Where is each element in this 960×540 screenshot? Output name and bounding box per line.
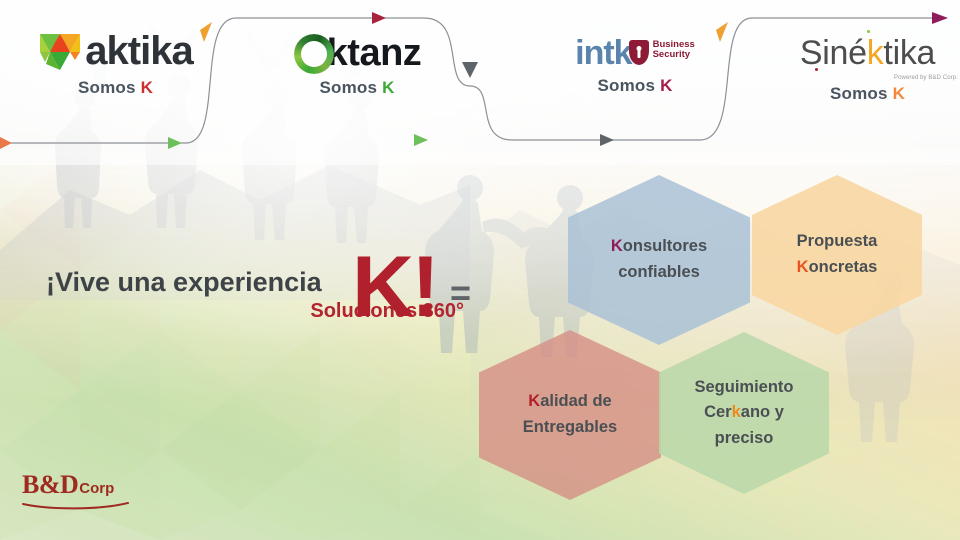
logo-aktika[interactable]: aktika Somos K (28, 30, 203, 98)
triangle-mosaic-icon (38, 30, 84, 72)
oktanz-tagline: Somos K (262, 78, 452, 98)
sparkle-dot-green (867, 30, 870, 33)
brand-logo-row: aktika Somos K ktanz Somos K intk Busine… (0, 0, 960, 165)
hexagon-konsultores-text: Konsultores confiables (601, 234, 717, 285)
slide-canvas: aktika Somos K ktanz Somos K intk Busine… (0, 0, 960, 540)
aktika-wordmark: aktika (85, 31, 192, 71)
sparkle-dot-red (815, 68, 818, 71)
logo-oktanz[interactable]: ktanz Somos K (262, 32, 452, 98)
aktika-tagline: Somos K (28, 78, 203, 98)
sinektika-wordmark: Sinéktika Powered by B&D Corp. (775, 36, 960, 70)
powered-by-label: Powered by B&D Corp. (894, 75, 958, 81)
shield-lock-icon (629, 40, 649, 65)
hexagon-propuesta-text: Propuesta Koncretas (787, 229, 888, 280)
hexagon-seguimiento-text: Seguimiento Cerkano y preciso (684, 375, 803, 452)
oktanz-wordmark: ktanz (262, 32, 452, 72)
equals-sign: = (450, 272, 471, 314)
bd-corp-wordmark: B&D (22, 472, 78, 498)
green-ring-o-icon (293, 32, 327, 70)
intk-tagline: Somos K (540, 76, 730, 96)
big-k-mark: K! (352, 248, 437, 327)
intk-subtitle: Business Security (653, 40, 695, 60)
hexagon-kalidad-text: Kalidad de Entregables (513, 389, 627, 440)
logo-sinektika[interactable]: Sinéktika Powered by B&D Corp. Somos K (775, 36, 960, 104)
intk-wordmark: intk (575, 36, 631, 70)
bd-corp-suffix: Corp (79, 481, 114, 496)
logo-bd-corp[interactable]: B&D Corp (22, 472, 130, 516)
sinektika-tagline: Somos K (775, 84, 960, 104)
swoosh-underline-icon (22, 502, 130, 511)
logo-intk[interactable]: intk Business Security Somos K (540, 36, 730, 96)
